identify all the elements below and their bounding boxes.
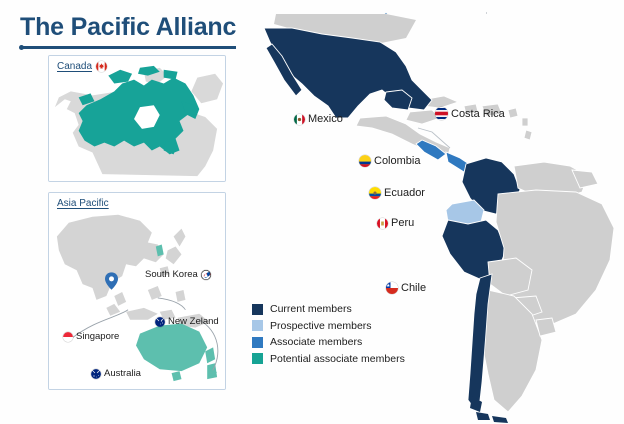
flag-chile-icon — [386, 282, 398, 294]
inset-label-text: New Zeland — [168, 316, 219, 327]
map-label-text: Costa Rica — [451, 108, 505, 120]
inset-label-new-zealand: New Zeland — [155, 316, 219, 327]
map-pin-icon — [105, 272, 118, 290]
legend-item-associate-members: Associate members — [252, 336, 405, 348]
inset-label-singapore: Singapore — [63, 331, 119, 342]
inset-panel-canada: Canada — [48, 55, 226, 182]
map-label-text: Colombia — [374, 155, 420, 167]
map-label-text: Chile — [401, 282, 426, 294]
legend-swatch — [252, 304, 263, 315]
map-label-mexico: Mexico — [294, 113, 343, 125]
canada-inset-map — [49, 56, 225, 181]
legend-label: Associate members — [270, 336, 362, 348]
inset-header-asia-pacific: Asia Pacific — [57, 198, 109, 209]
map-label-peru: Peru — [377, 217, 414, 229]
legend-swatch — [252, 320, 263, 331]
legend: Current members Prospective members Asso… — [252, 303, 405, 369]
flag-peru-icon — [377, 218, 388, 229]
legend-label: Potential associate members — [270, 353, 405, 365]
infographic-canvas: The Pacific Alliance BIZLATIN HUB — [0, 0, 624, 424]
map-label-text: Mexico — [308, 113, 343, 125]
map-label-text: Ecuador — [384, 187, 425, 199]
flag-costa-rica-icon — [435, 107, 448, 120]
legend-item-current-members: Current members — [252, 303, 405, 315]
legend-item-prospective-members: Prospective members — [252, 320, 405, 332]
asia-pacific-inset-map — [49, 193, 225, 389]
map-label-text: Peru — [391, 217, 414, 229]
flag-colombia-icon — [359, 155, 371, 167]
inset-label-south-korea: South Korea — [145, 269, 211, 280]
inset-panel-asia-pacific: Asia Pacific South Korea Singapore — [48, 192, 226, 390]
inset-label-text: South Korea — [145, 269, 198, 280]
legend-label: Prospective members — [270, 320, 372, 332]
legend-label: Current members — [270, 303, 352, 315]
map-label-chile: Chile — [386, 282, 426, 294]
inset-label-text: Singapore — [76, 331, 119, 342]
flag-australia-icon — [91, 369, 101, 379]
flag-singapore-icon — [63, 332, 73, 342]
map-label-ecuador: Ecuador — [369, 187, 425, 199]
map-label-costa-rica: Costa Rica — [435, 107, 505, 120]
flag-ecuador-icon — [369, 187, 381, 199]
legend-swatch — [252, 337, 263, 348]
map-label-colombia: Colombia — [359, 155, 420, 167]
legend-item-potential-associate-members: Potential associate members — [252, 353, 405, 365]
flag-canada-icon — [96, 61, 107, 72]
inset-label-text: Australia — [104, 368, 141, 379]
inset-label-australia: Australia — [91, 368, 141, 379]
flag-mexico-icon — [294, 114, 305, 125]
inset-title-canada: Canada — [57, 61, 92, 72]
flag-south-korea-icon — [201, 270, 211, 280]
inset-header-canada: Canada — [57, 61, 107, 72]
inset-title-asia-pacific: Asia Pacific — [57, 198, 109, 209]
flag-new-zealand-icon — [155, 317, 165, 327]
legend-swatch — [252, 353, 263, 364]
